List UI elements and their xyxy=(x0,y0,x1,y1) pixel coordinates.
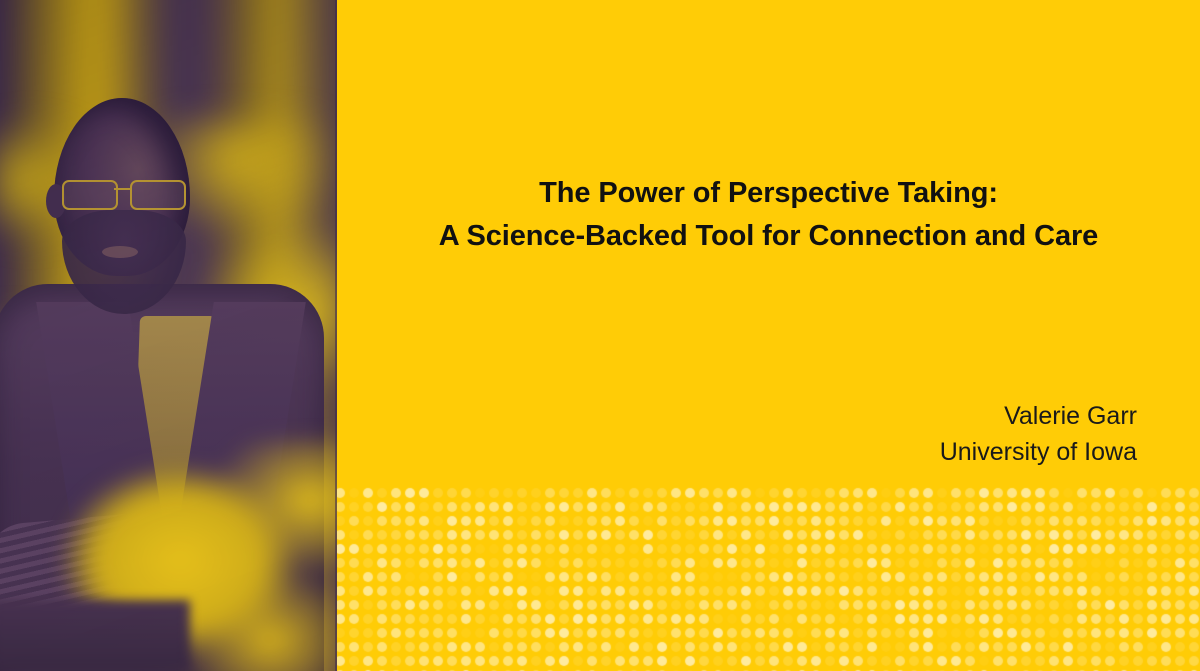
duotone-overlay xyxy=(0,0,337,671)
presentation-title-slide: The Power of Perspective Taking: A Scien… xyxy=(0,0,1200,671)
slide-content-panel: The Power of Perspective Taking: A Scien… xyxy=(337,0,1200,671)
halftone-dot-canvas xyxy=(337,484,1200,671)
speaker-photo xyxy=(0,0,337,671)
halftone-dot-pattern xyxy=(337,484,1200,671)
byline: Valerie Garr University of Iowa xyxy=(940,398,1137,470)
slide-title: The Power of Perspective Taking: A Scien… xyxy=(337,172,1200,258)
presenter-affiliation: University of Iowa xyxy=(940,434,1137,470)
presenter-name: Valerie Garr xyxy=(940,398,1137,434)
